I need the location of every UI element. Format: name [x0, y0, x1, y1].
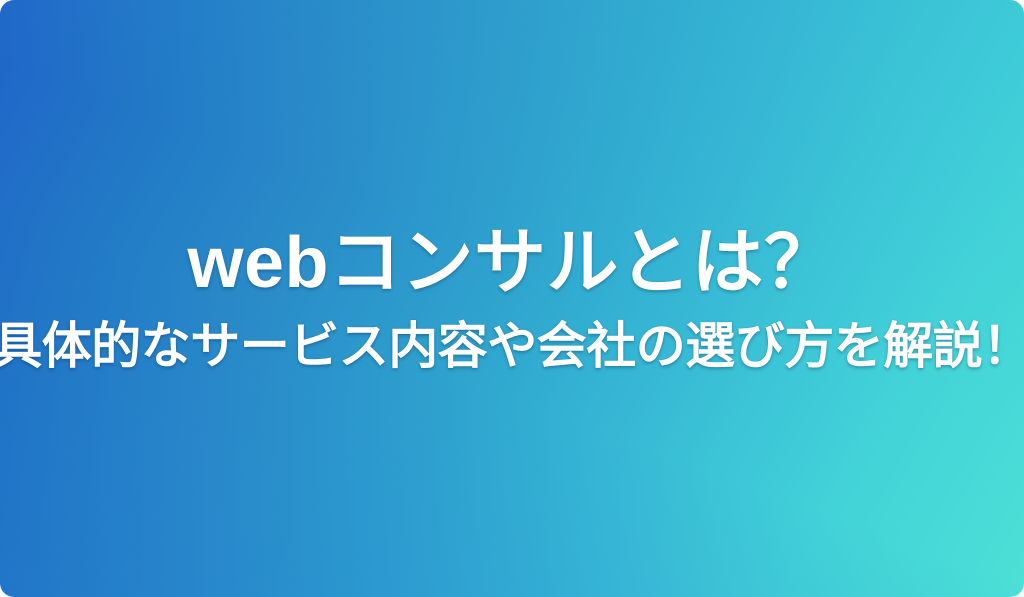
banner-subheadline: 具体的なサービス内容や会社の選び方を解説！: [0, 321, 1024, 371]
banner-headline: webコンサルとは？: [187, 227, 836, 299]
banner-content: webコンサルとは？ 具体的なサービス内容や会社の選び方を解説！: [0, 0, 1024, 597]
banner-card: webコンサルとは？ 具体的なサービス内容や会社の選び方を解説！: [0, 0, 1024, 597]
banner-root: webコンサルとは？ 具体的なサービス内容や会社の選び方を解説！: [0, 0, 1024, 597]
